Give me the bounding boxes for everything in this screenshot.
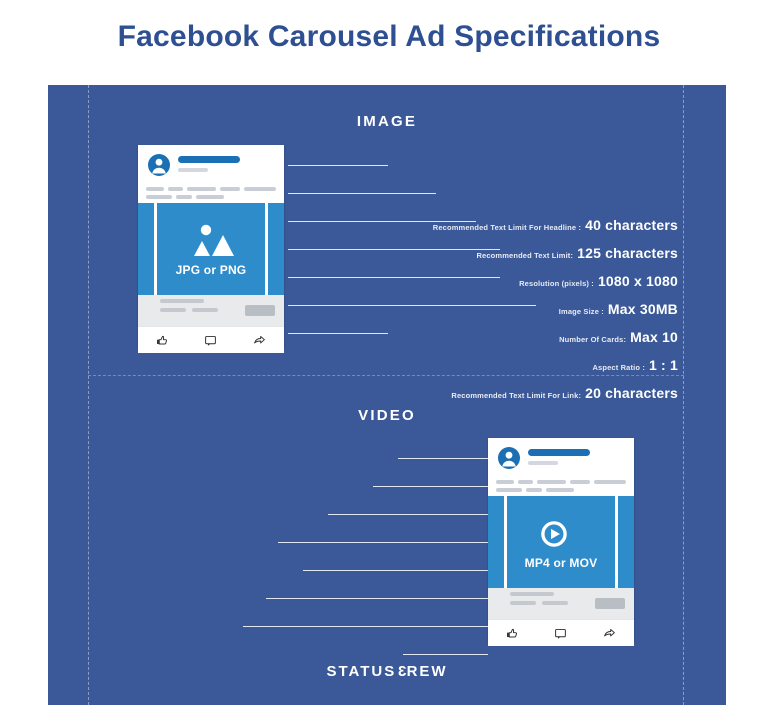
brand-logo: STATUS3REW (48, 663, 726, 680)
section-title-video: VIDEO (48, 407, 726, 424)
spec-label: Recommended Text Limit For Headline : (433, 223, 581, 232)
spec-row: Aspect Ratio : 1 : 1 (592, 357, 678, 373)
post-meta-placeholder (178, 168, 208, 172)
spec-row: Recommended Text Limit For Link: 20 char… (451, 385, 678, 401)
card-caption-area (138, 295, 284, 326)
share-icon[interactable] (603, 627, 616, 640)
comment-icon[interactable] (554, 627, 567, 640)
brand-mark-icon: 3 (396, 663, 406, 680)
spec-label: Recommended Text Limit For Link: (451, 391, 581, 400)
video-ad-mockup-card: MP4 or MOV (488, 438, 634, 641)
leader-line (403, 654, 488, 655)
section-title-image: IMAGE (48, 113, 726, 130)
post-text-placeholder (138, 187, 284, 199)
leader-line (278, 542, 488, 543)
play-circle-icon[interactable] (534, 514, 588, 552)
profile-name-placeholder (178, 156, 240, 163)
spec-label: Aspect Ratio : (592, 363, 645, 372)
carousel-strip: JPG or PNG (138, 203, 284, 295)
leader-line (266, 598, 488, 599)
post-meta-placeholder (528, 461, 558, 465)
leader-line (303, 570, 488, 571)
card-header (138, 145, 284, 187)
share-icon[interactable] (253, 334, 266, 347)
avatar-icon (147, 153, 171, 177)
comment-icon[interactable] (204, 334, 217, 347)
card-action-bar (488, 619, 634, 646)
spec-label: Recommended Text Limit: (476, 251, 573, 260)
profile-name-placeholder (528, 449, 590, 456)
spec-value: 40 characters (585, 217, 678, 233)
spec-row: Recommended Text Limit For Headline : 40… (433, 217, 678, 233)
carousel-slide-active[interactable]: MP4 or MOV (504, 496, 618, 588)
image-ad-mockup-card: JPG or PNG (138, 145, 284, 348)
thumbs-up-icon[interactable] (506, 627, 519, 640)
media-format-label: MP4 or MOV (525, 556, 598, 570)
carousel-slide-prev[interactable] (138, 203, 154, 295)
spec-label: Number Of Cards: (559, 335, 626, 344)
spec-value: Max 30MB (608, 301, 678, 317)
page-title: Facebook Carousel Ad Specifications (0, 20, 778, 54)
spec-label: Resolution (pixels) : (519, 279, 594, 288)
leader-line (288, 193, 436, 194)
leader-line (328, 514, 488, 515)
dashed-divider-right (683, 85, 684, 705)
brand-suffix: REW (407, 663, 448, 680)
dashed-divider-middle (88, 375, 684, 376)
card-action-bar (138, 326, 284, 353)
spec-value: 1 : 1 (649, 357, 678, 373)
spec-value: Max 10 (630, 329, 678, 345)
post-text-placeholder (488, 480, 634, 492)
spec-row: Image Size : Max 30MB (559, 301, 678, 317)
spec-value: 20 characters (585, 385, 678, 401)
spec-row: Recommended Text Limit: 125 characters (476, 245, 678, 261)
photo-icon (184, 221, 238, 259)
media-format-label: JPG or PNG (176, 263, 247, 277)
spec-row: Resolution (pixels) : 1080 x 1080 (519, 273, 678, 289)
brand-prefix: STATUS (326, 663, 396, 680)
thumbs-up-icon[interactable] (156, 334, 169, 347)
cta-button[interactable] (245, 305, 275, 316)
leader-line (398, 458, 488, 459)
carousel-slide-next[interactable] (618, 496, 634, 588)
leader-line (373, 486, 488, 487)
leader-line (288, 277, 500, 278)
leader-line (288, 333, 388, 334)
blue-panel: IMAGE (48, 85, 726, 705)
leader-line (243, 626, 488, 627)
spec-value: 1080 x 1080 (598, 273, 678, 289)
dashed-divider-left (88, 85, 89, 705)
carousel-slide-active[interactable]: JPG or PNG (154, 203, 268, 295)
spec-row: Number Of Cards: Max 10 (559, 329, 678, 345)
carousel-slide-next[interactable] (268, 203, 284, 295)
leader-line (288, 165, 388, 166)
cta-button[interactable] (595, 598, 625, 609)
carousel-slide-prev[interactable] (488, 496, 504, 588)
card-header (488, 438, 634, 480)
card-caption-area (488, 588, 634, 619)
carousel-strip: MP4 or MOV (488, 496, 634, 588)
spec-value: 125 characters (577, 245, 678, 261)
leader-line (288, 249, 500, 250)
leader-line (288, 305, 536, 306)
avatar-icon (497, 446, 521, 470)
spec-label: Image Size : (559, 307, 604, 316)
infographic-page: Facebook Carousel Ad Specifications IMAG… (0, 0, 778, 722)
